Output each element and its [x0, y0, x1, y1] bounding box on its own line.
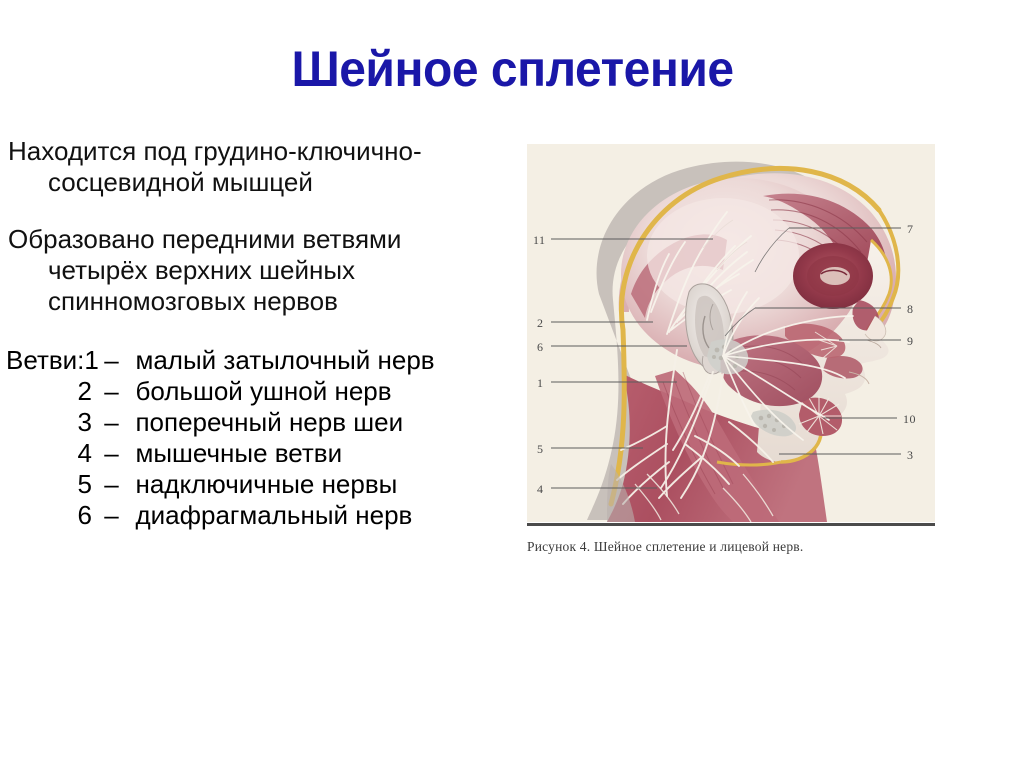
branch-number: 4: [6, 438, 97, 469]
figure-label-11: 11: [533, 233, 546, 248]
branch-number: 5: [6, 469, 97, 500]
figure-label-2: 2: [537, 316, 544, 331]
figure-label-7: 7: [907, 222, 914, 237]
paragraph-location-line-1: Находится под грудино-ключично-: [6, 136, 506, 167]
branch-label: большой ушной нерв: [135, 376, 391, 407]
branch-dash: –: [104, 469, 128, 500]
branch-label: мышечные ветви: [135, 438, 342, 469]
anatomy-illustration: 11 2 6 1 5 4 7 8 9 10 3: [527, 144, 935, 522]
list-item: 4 – мышечные ветви: [6, 438, 506, 469]
paragraph-formation-line-1: Образовано передними ветвями: [6, 224, 506, 255]
branch-label: диафрагмальный нерв: [135, 500, 412, 531]
paragraph-location-line-2: сосцевидной мышцей: [6, 167, 506, 198]
branch-number: 6: [6, 500, 97, 531]
branch-label: малый затылочный нерв: [135, 345, 434, 376]
list-item: 2 – большой ушной нерв: [6, 376, 506, 407]
figure-caption: Рисунок 4. Шейное сплетение и лицевой не…: [527, 539, 935, 555]
spacer-one: [6, 198, 506, 224]
branch-number: 2: [6, 376, 97, 407]
text-content-column: Находится под грудино-ключично- сосцевид…: [6, 136, 506, 531]
branch-number: 1: [84, 345, 98, 375]
branch-label: поперечный нерв шеи: [135, 407, 403, 438]
figure-label-3: 3: [907, 448, 914, 463]
figure-label-6: 6: [537, 340, 544, 355]
branch-dash: –: [104, 345, 128, 376]
paragraph-formation-line-3: спинномозговых нервов: [6, 286, 506, 317]
paragraph-formation: Образовано передними ветвями четырёх вер…: [6, 224, 506, 317]
head-anatomy-diagram: [527, 144, 935, 522]
figure-label-8: 8: [907, 302, 914, 317]
branch-label: надключичные нервы: [135, 469, 397, 500]
figure-label-4: 4: [537, 482, 544, 497]
list-item: 6 – диафрагмальный нерв: [6, 500, 506, 531]
branch-number: 3: [6, 407, 97, 438]
list-item: 5 – надключичные нервы: [6, 469, 506, 500]
spacer-two: [6, 317, 506, 345]
page-title: Шейное сплетение: [21, 40, 1004, 98]
branches-lead-label: Ветви:: [6, 345, 84, 375]
branch-list: Ветви:1 – малый затылочный нерв 2 – боль…: [6, 345, 506, 531]
figure-block: 11 2 6 1 5 4 7 8 9 10 3 Рисунок 4. Шейно…: [527, 144, 935, 555]
figure-label-9: 9: [907, 334, 914, 349]
figure-label-10: 10: [903, 412, 916, 427]
figure-divider-rule: [527, 523, 935, 526]
paragraph-location: Находится под грудино-ключично- сосцевид…: [6, 136, 506, 198]
figure-label-5: 5: [537, 442, 544, 457]
branch-dash: –: [104, 438, 128, 469]
branch-dash: –: [104, 376, 128, 407]
branch-dash: –: [104, 500, 128, 531]
figure-label-1: 1: [537, 376, 544, 391]
branch-lead-number: Ветви:1: [6, 345, 97, 376]
paragraph-formation-line-2: четырёх верхних шейных: [6, 255, 506, 286]
list-item: 3 – поперечный нерв шеи: [6, 407, 506, 438]
galea-aponeurotica: [647, 198, 799, 314]
eye-globe: [820, 267, 850, 285]
branch-dash: –: [104, 407, 128, 438]
list-item: Ветви:1 – малый затылочный нерв: [6, 345, 506, 376]
